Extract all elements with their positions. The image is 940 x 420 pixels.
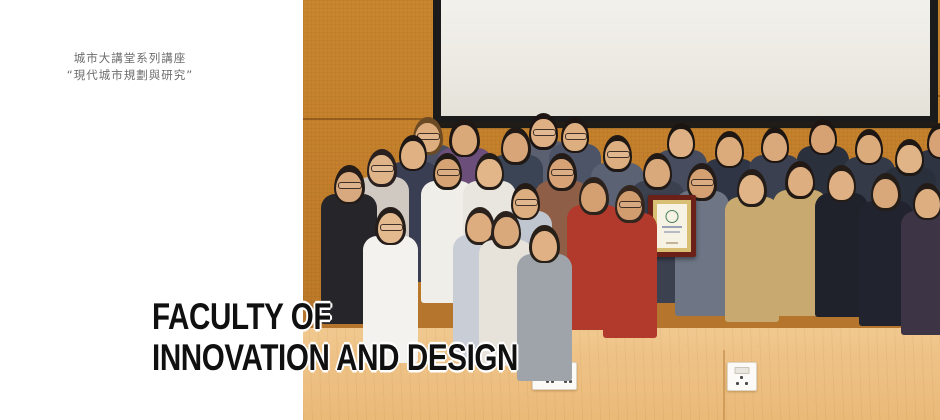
person-face <box>669 129 693 157</box>
person-glasses <box>619 201 642 208</box>
person-face <box>717 137 742 166</box>
person-glasses <box>338 182 362 189</box>
person-body <box>901 211 940 335</box>
person-face <box>739 175 764 204</box>
lecture-series-text: 城市大講堂系列講座 “現代城市規劃與研究” <box>0 50 260 84</box>
wall-socket-right <box>727 362 757 391</box>
faculty-title: FACULTY OF INNOVATION AND DESIGN <box>152 300 610 375</box>
person-body <box>725 197 779 322</box>
faculty-banner: 城市大講堂系列講座 “現代城市規劃與研究” FACULTY OF INNOVAT… <box>0 0 940 420</box>
person-face <box>897 145 921 173</box>
person-face <box>645 159 669 187</box>
person-face <box>915 189 940 218</box>
person-face <box>829 171 854 200</box>
person-glasses <box>565 133 587 140</box>
faculty-title-line2: INNOVATION AND DESIGN <box>152 341 518 375</box>
person-face <box>452 125 477 154</box>
person-face <box>857 135 881 163</box>
person-face <box>873 179 898 208</box>
person-face <box>532 231 557 260</box>
person-face <box>763 133 787 161</box>
lecture-series-line1: 城市大講堂系列講座 <box>0 50 260 67</box>
person-face <box>477 159 501 187</box>
person <box>603 188 657 342</box>
person-glasses <box>607 151 630 158</box>
person-face <box>788 167 813 196</box>
person-face <box>811 125 835 153</box>
person <box>901 186 940 338</box>
person-glasses <box>515 199 538 206</box>
lecture-series-line2: “現代城市規劃與研究” <box>0 67 260 84</box>
person-face <box>494 217 519 246</box>
person-glasses <box>437 169 460 176</box>
faculty-title-line1: FACULTY OF <box>152 300 518 334</box>
person-body <box>603 213 657 338</box>
desk-panel-joint <box>723 350 725 420</box>
person-glasses <box>691 179 714 186</box>
person-glasses <box>380 224 404 231</box>
person-glasses <box>551 169 574 176</box>
person <box>725 172 779 326</box>
